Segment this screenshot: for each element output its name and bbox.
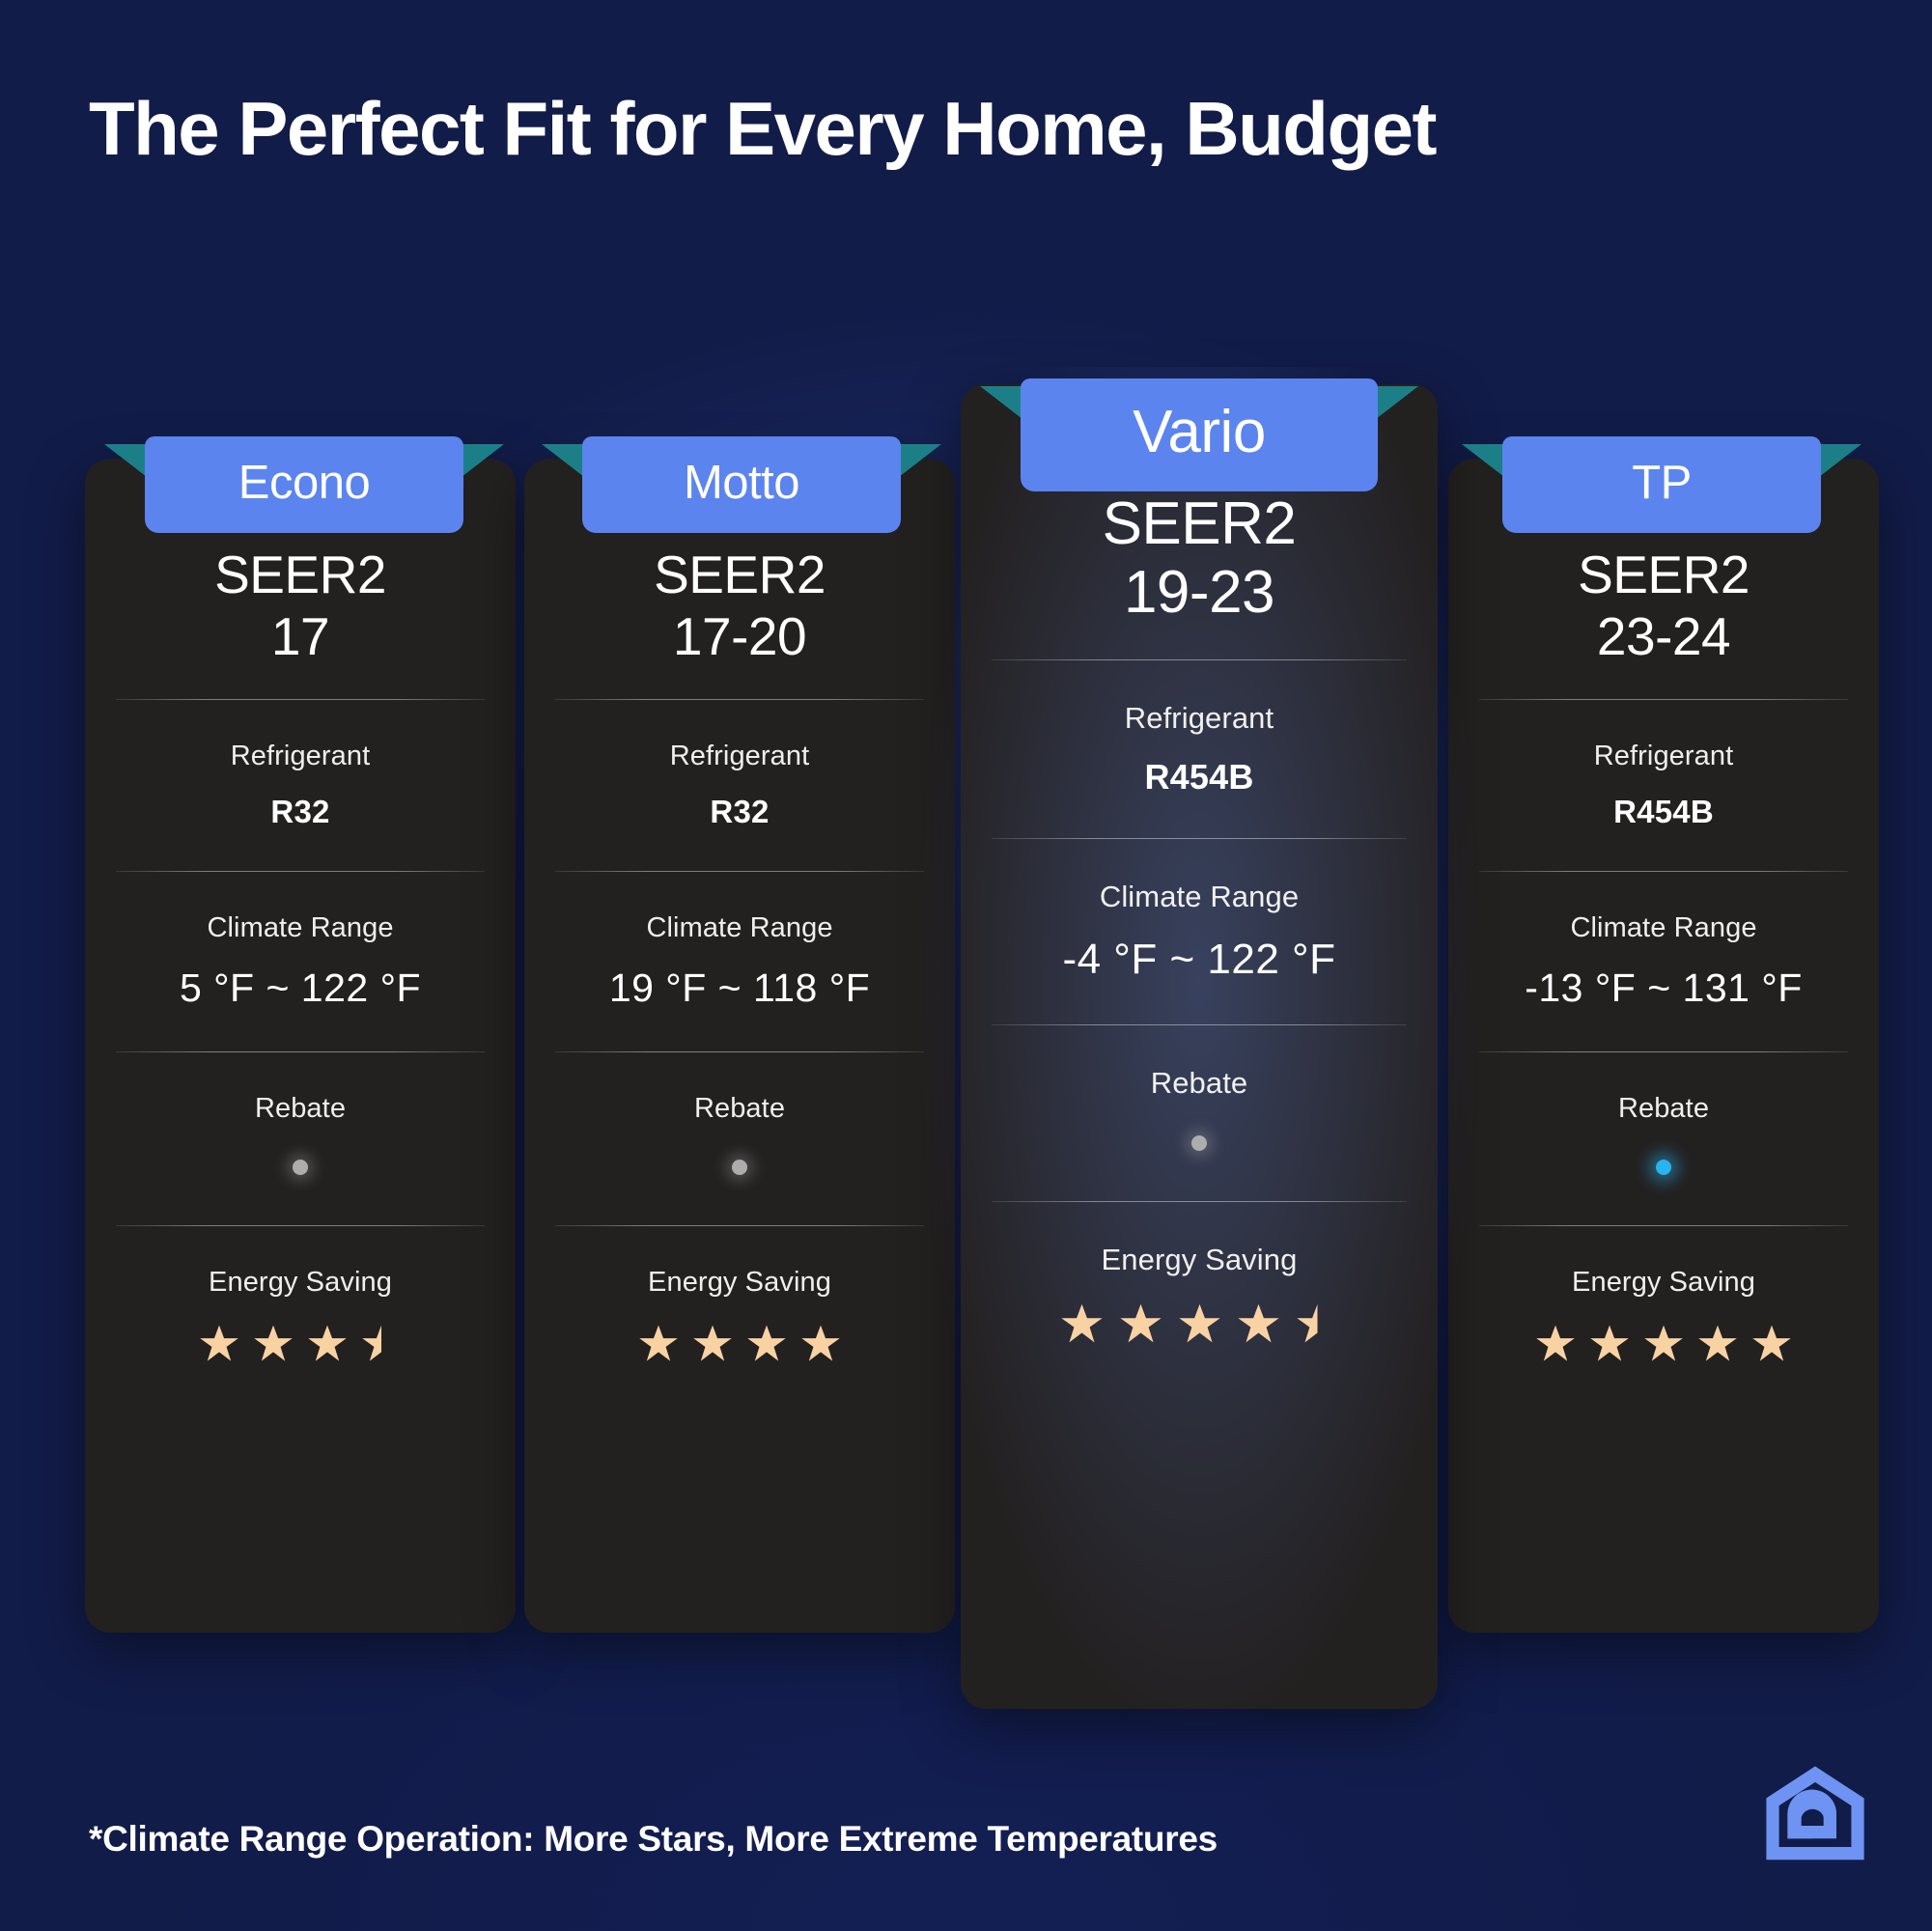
energy-star-rating (553, 1324, 926, 1364)
spec-rebate: Rebate (553, 1052, 926, 1225)
energy-star-rating (114, 1324, 487, 1364)
rebate-indicator (553, 1150, 926, 1185)
spec-value: 5 °F ~ 122 °F (114, 965, 487, 1011)
spec-value: -4 °F ~ 122 °F (990, 936, 1409, 984)
rebate-dot-icon (1656, 1160, 1671, 1175)
spec-label: Climate Range (1477, 912, 1850, 944)
spec-climate-range: Climate Range -4 °F ~ 122 °F (990, 839, 1409, 1024)
spec-energy-saving: Energy Saving (1477, 1226, 1850, 1405)
card-body: SEER2 17 Refrigerant R32 Climate Range 5… (85, 547, 516, 1405)
product-ribbon-motto[interactable]: Motto (582, 436, 901, 533)
seer-value: 17-20 (553, 607, 926, 667)
spec-value: R32 (553, 794, 926, 830)
spec-label: Rebate (1477, 1093, 1850, 1125)
star-full-icon (1535, 1324, 1576, 1364)
seer-block: SEER2 17-20 (553, 547, 926, 699)
product-card-motto[interactable]: SEER2 17-20 Refrigerant R32 Climate Rang… (524, 459, 955, 1633)
spec-label: Rebate (553, 1093, 926, 1125)
star-full-icon (746, 1324, 787, 1364)
seer-label: SEER2 (1477, 547, 1850, 603)
seer-block: SEER2 23-24 (1477, 547, 1850, 699)
footnote: *Climate Range Operation: More Stars, Mo… (89, 1819, 1218, 1860)
spec-label: Climate Range (553, 912, 926, 944)
card-body: SEER2 19-23 Refrigerant R454B Climate Ra… (961, 492, 1438, 1386)
star-full-icon (1178, 1302, 1221, 1346)
spec-rebate: Rebate (1477, 1052, 1850, 1225)
spec-rebate: Rebate (114, 1052, 487, 1225)
spec-label: Refrigerant (1477, 741, 1850, 772)
spec-climate-range: Climate Range 19 °F ~ 118 °F (553, 872, 926, 1051)
seer-label: SEER2 (553, 547, 926, 603)
spec-refrigerant: Refrigerant R454B (990, 660, 1409, 838)
product-name: Motto (582, 436, 901, 533)
product-ribbon-tp[interactable]: TP (1502, 436, 1821, 533)
product-name: TP (1502, 436, 1821, 533)
star-full-icon (800, 1324, 841, 1364)
energy-star-rating (990, 1302, 1409, 1346)
product-ribbon-econo[interactable]: Econo (145, 436, 463, 533)
star-full-icon (1697, 1324, 1738, 1364)
spec-climate-range: Climate Range -13 °F ~ 131 °F (1477, 872, 1850, 1051)
card-body: SEER2 23-24 Refrigerant R454B Climate Ra… (1448, 547, 1879, 1405)
star-full-icon (253, 1324, 294, 1364)
spec-refrigerant: Refrigerant R32 (553, 700, 926, 871)
spec-energy-saving: Energy Saving (553, 1226, 926, 1405)
rebate-dot-icon (293, 1160, 308, 1175)
spec-value: R454B (1477, 794, 1850, 830)
house-logo-icon (1762, 1762, 1868, 1868)
star-full-icon (199, 1324, 239, 1364)
star-full-icon (1751, 1324, 1792, 1364)
seer-value: 17 (114, 607, 487, 667)
spec-label: Refrigerant (990, 701, 1409, 736)
spec-label: Rebate (114, 1093, 487, 1125)
spec-label: Energy Saving (990, 1243, 1409, 1277)
seer-label: SEER2 (990, 492, 1409, 555)
spec-label: Refrigerant (114, 741, 487, 772)
seer-block: SEER2 17 (114, 547, 487, 699)
product-card-tp[interactable]: SEER2 23-24 Refrigerant R454B Climate Ra… (1448, 459, 1879, 1633)
spec-refrigerant: Refrigerant R32 (114, 700, 487, 871)
spec-value: -13 °F ~ 131 °F (1477, 965, 1850, 1011)
spec-label: Climate Range (990, 880, 1409, 914)
star-full-icon (1643, 1324, 1684, 1364)
seer-block: SEER2 19-23 (990, 492, 1409, 659)
product-comparison-deck: SEER2 17 Refrigerant R32 Climate Range 5… (0, 0, 1932, 1931)
spec-label: Refrigerant (553, 741, 926, 772)
star-full-icon (1060, 1302, 1104, 1346)
seer-label: SEER2 (114, 547, 487, 603)
energy-star-rating (1477, 1324, 1850, 1364)
rebate-indicator (990, 1126, 1409, 1161)
rebate-dot-icon (732, 1160, 747, 1175)
spec-energy-saving: Energy Saving (990, 1202, 1409, 1386)
star-full-icon (1589, 1324, 1630, 1364)
spec-refrigerant: Refrigerant R454B (1477, 700, 1850, 871)
product-name: Econo (145, 436, 463, 533)
spec-climate-range: Climate Range 5 °F ~ 122 °F (114, 872, 487, 1051)
spec-label: Energy Saving (114, 1267, 487, 1299)
star-full-icon (638, 1324, 679, 1364)
spec-label: Climate Range (114, 912, 487, 944)
star-full-icon (1237, 1302, 1280, 1346)
spec-value: R32 (114, 794, 487, 830)
spec-value: R454B (990, 757, 1409, 798)
star-half-icon (1296, 1302, 1339, 1346)
product-card-vario[interactable]: SEER2 19-23 Refrigerant R454B Climate Ra… (961, 384, 1438, 1709)
star-half-icon (361, 1324, 402, 1364)
spec-label: Rebate (990, 1066, 1409, 1101)
spec-value: 19 °F ~ 118 °F (553, 965, 926, 1011)
rebate-indicator (1477, 1150, 1850, 1185)
spec-label: Energy Saving (553, 1267, 926, 1299)
rebate-indicator (114, 1150, 487, 1185)
seer-value: 23-24 (1477, 607, 1850, 667)
spec-energy-saving: Energy Saving (114, 1226, 487, 1405)
spec-rebate: Rebate (990, 1025, 1409, 1201)
rebate-dot-icon (1191, 1135, 1207, 1151)
product-ribbon-vario[interactable]: Vario (1021, 378, 1378, 491)
spec-label: Energy Saving (1477, 1267, 1850, 1299)
star-full-icon (307, 1324, 348, 1364)
product-name: Vario (1021, 378, 1378, 491)
seer-value: 19-23 (990, 559, 1409, 626)
star-full-icon (1119, 1302, 1162, 1346)
product-card-econo[interactable]: SEER2 17 Refrigerant R32 Climate Range 5… (85, 459, 516, 1633)
star-full-icon (692, 1324, 733, 1364)
card-body: SEER2 17-20 Refrigerant R32 Climate Rang… (524, 547, 955, 1405)
